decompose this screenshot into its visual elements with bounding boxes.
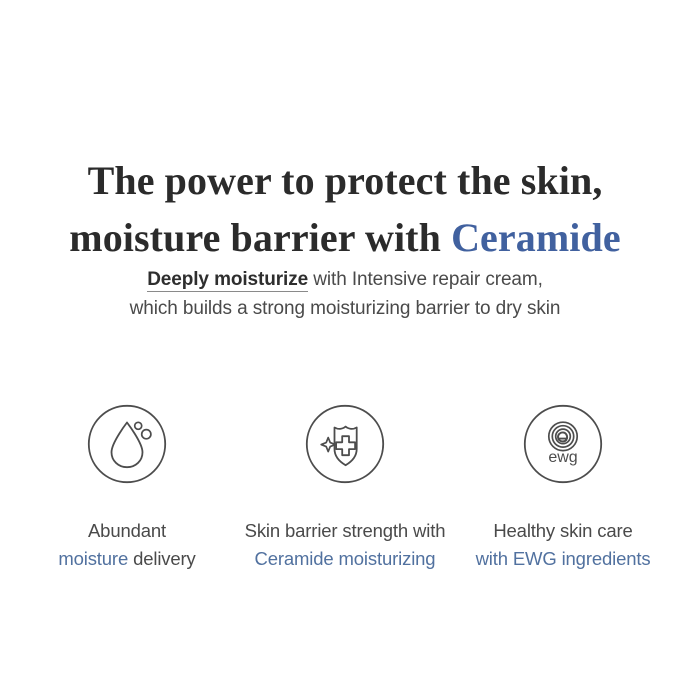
caption-line-2: Ceramide moisturizing [245,545,446,573]
headline-line-2: moisture barrier with Ceramide [0,210,690,267]
subtitle-line-1: Deeply moisturize with Intensive repair … [0,266,690,295]
feature-item-ewg: ewg Healthy skin care with EWG ingredien… [454,404,672,573]
caption-accent: with EWG ingredients [476,548,651,569]
ewg-logo-icon: ewg [523,404,603,484]
subtitle: Deeply moisturize with Intensive repair … [0,266,690,324]
caption-accent: Ceramide moisturizing [255,548,436,569]
feature-row: Abundant moisture delivery Skin barrier … [0,404,690,573]
page-title: The power to protect the skin, moisture … [0,153,690,267]
feature-item-moisture: Abundant moisture delivery [18,404,236,573]
caption-line-1: Abundant [58,517,195,545]
caption-line-2: moisture delivery [58,545,195,573]
subtitle-line-1-rest: with Intensive repair cream, [308,269,543,290]
feature-item-barrier: Skin barrier strength with Ceramide mois… [236,404,454,573]
feature-caption-barrier: Skin barrier strength with Ceramide mois… [245,517,446,573]
caption-line-1: Skin barrier strength with [245,517,446,545]
promo-banner: The power to protect the skin, moisture … [0,0,690,690]
subtitle-emphasis: Deeply moisturize [147,269,308,292]
shield-cross-icon [305,404,385,484]
feature-caption-moisture: Abundant moisture delivery [58,517,195,573]
headline-accent-word: Ceramide [451,215,621,260]
caption-line-2: with EWG ingredients [476,545,651,573]
headline-line-2-plain: moisture barrier with [69,215,451,260]
water-drop-icon [87,404,167,484]
headline-line-1: The power to protect the skin, [0,153,690,210]
subtitle-line-2: which builds a strong moisturizing barri… [0,295,690,324]
ewg-wordmark: ewg [548,449,577,466]
caption-line-1: Healthy skin care [476,517,651,545]
feature-caption-ewg: Healthy skin care with EWG ingredients [476,517,651,573]
caption-accent: moisture [58,548,128,569]
caption-plain: delivery [128,548,196,569]
